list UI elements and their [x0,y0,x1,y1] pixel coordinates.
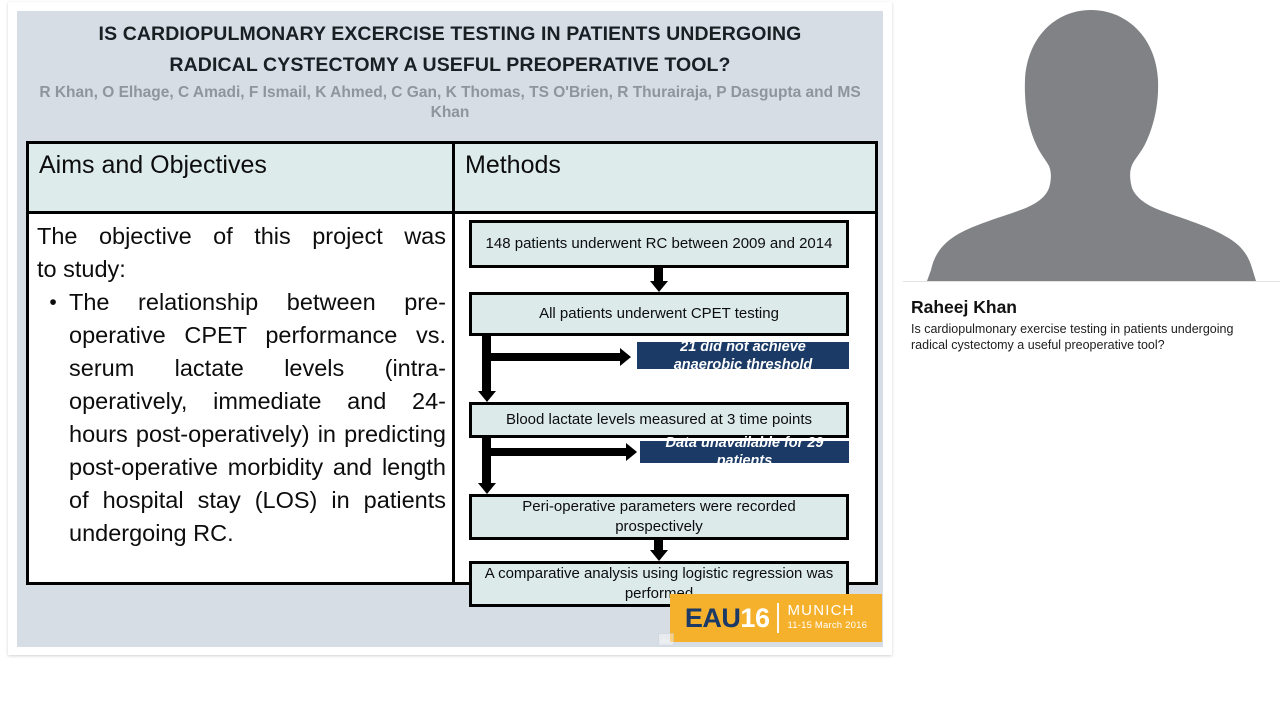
logo-location-block: MUNICH 11-15 March 2016 [787,604,867,632]
header-cell-aims: Aims and Objectives [29,144,455,211]
author-list: R Khan, O Elhage, C Amadi, F Ismail, K A… [29,83,871,123]
flow-exclusion-2-shaft [482,448,628,456]
objectives-intro-line-1: The objective of this project was [37,220,446,252]
slide-title-block: IS CARDIOPULMONARY EXCERCISE TESTING IN … [17,19,883,123]
page-title-line-2: RADICAL CYSTECTOMY A USEFUL PREOPERATIVE… [29,50,871,81]
speaker-info: Raheej Khan Is cardiopulmonary exercise … [903,290,1280,353]
logo-divider [777,603,779,633]
page-title-line-1: IS CARDIOPULMONARY EXCERCISE TESTING IN … [29,19,871,50]
flow-arrow-1-shaft [654,268,663,282]
speaker-avatar [903,0,1280,282]
logo-letters: EAU [685,603,741,633]
speaker-talk-title: Is cardiopulmonary exercise testing in p… [911,322,1272,353]
flowchart-step-4: Peri-operative parameters were recorded … [469,494,849,540]
objectives-bullet-text: The relationship between pre-operative C… [69,286,446,550]
header-cell-methods: Methods [455,144,875,211]
flow-branch-2-head-icon [478,483,496,494]
logo-year: 16 [740,603,769,633]
flow-branch-1-head-icon [478,391,496,402]
slide-footer: EAU16 MUNICH 11-15 March 2016 [17,585,883,647]
column-header-aims: Aims and Objectives [29,144,452,180]
column-header-methods: Methods [455,144,875,180]
body-cell-aims: The objective of this project was to stu… [29,214,455,582]
small-media-icon [658,633,674,646]
logo-wordmark: EAU16 [685,603,770,634]
flow-branch-1-stem [482,336,491,396]
flowchart-step-2: All patients underwent CPET testing [469,292,849,336]
logo-dates: 11-15 March 2016 [787,619,867,632]
slide-frame: IS CARDIOPULMONARY EXCERCISE TESTING IN … [8,2,892,655]
objectives-text: The objective of this project was to stu… [29,214,452,550]
presentation-slide: IS CARDIOPULMONARY EXCERCISE TESTING IN … [17,11,883,647]
slide-viewer: IS CARDIOPULMONARY EXCERCISE TESTING IN … [0,0,900,660]
flow-arrow-1-head-icon [650,281,668,292]
content-table: Aims and Objectives Methods The objectiv… [26,141,878,585]
flowchart-exclusion-2: Data unavailable for 29 patients [640,441,849,463]
methods-flowchart: 148 patients underwent RC between 2009 a… [455,214,875,582]
objectives-intro-line-2: to study: [37,253,446,285]
flow-exclusion-2-head-icon [626,443,637,461]
flowchart-step-3: Blood lactate levels measured at 3 time … [469,402,849,438]
flow-exclusion-1-head-icon [620,348,631,366]
table-body-row: The objective of this project was to stu… [29,214,875,582]
flowchart-step-1: 148 patients underwent RC between 2009 a… [469,220,849,268]
person-silhouette-icon [903,0,1280,281]
objectives-bullet-item: • The relationship between pre-operative… [37,286,446,550]
speaker-name: Raheej Khan [911,295,1272,319]
flowchart-exclusion-1: 21 did not achieve anaerobic threshold [637,342,849,369]
bullet-marker-icon: • [37,286,69,550]
eau-congress-logo: EAU16 MUNICH 11-15 March 2016 [670,594,882,642]
flow-exclusion-1-shaft [482,353,622,361]
speaker-panel: Raheej Khan Is cardiopulmonary exercise … [903,0,1280,720]
flow-arrow-4-head-icon [650,550,668,561]
flow-branch-2-stem [482,438,491,488]
logo-city: MUNICH [787,604,867,617]
body-cell-methods: 148 patients underwent RC between 2009 a… [455,214,875,582]
table-header-row: Aims and Objectives Methods [29,144,875,214]
screen: IS CARDIOPULMONARY EXCERCISE TESTING IN … [0,0,1280,720]
